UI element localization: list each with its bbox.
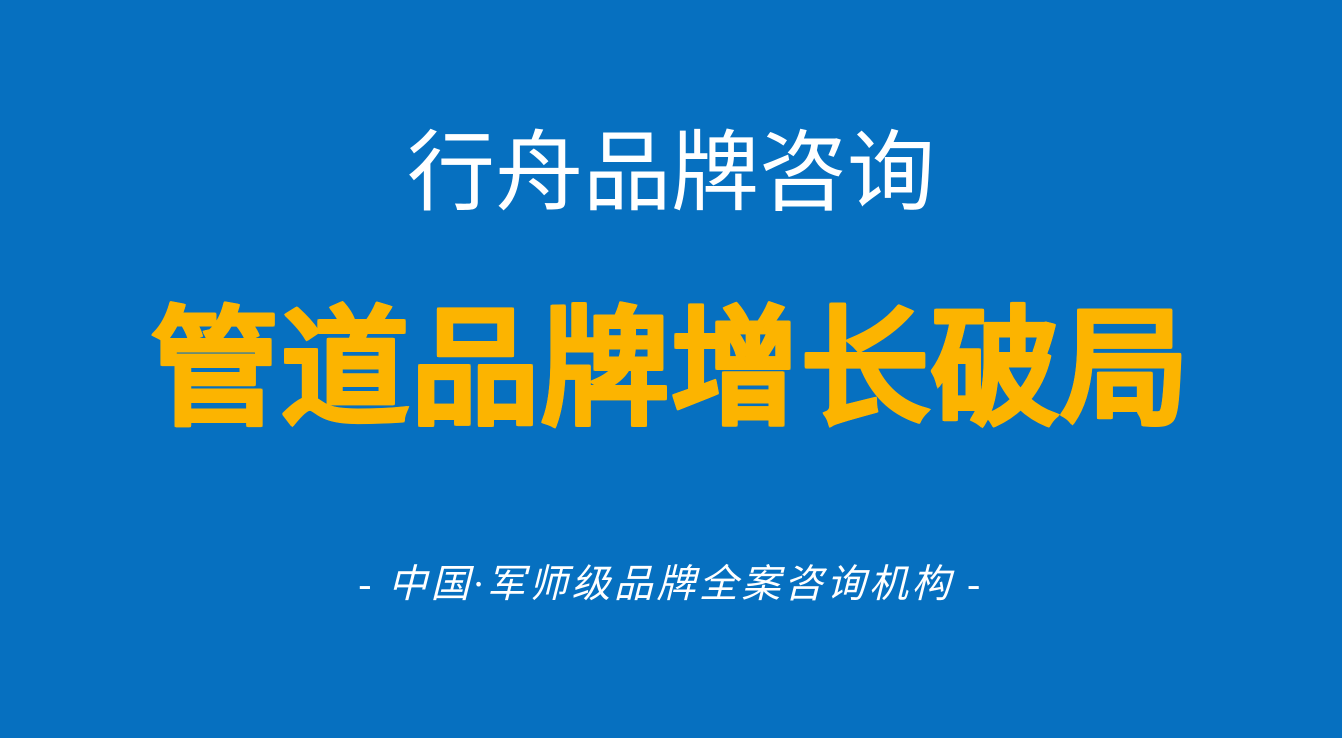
title-slide: 行舟品牌咨询 管道品牌增长破局 - 中国·军师级品牌全案咨询机构 - <box>0 0 1342 738</box>
headline-title: 管道品牌增长破局 <box>0 296 1342 444</box>
tagline-subtitle: - 中国·军师级品牌全案咨询机构 - <box>0 562 1342 609</box>
brand-name: 行舟品牌咨询 <box>0 124 1342 223</box>
